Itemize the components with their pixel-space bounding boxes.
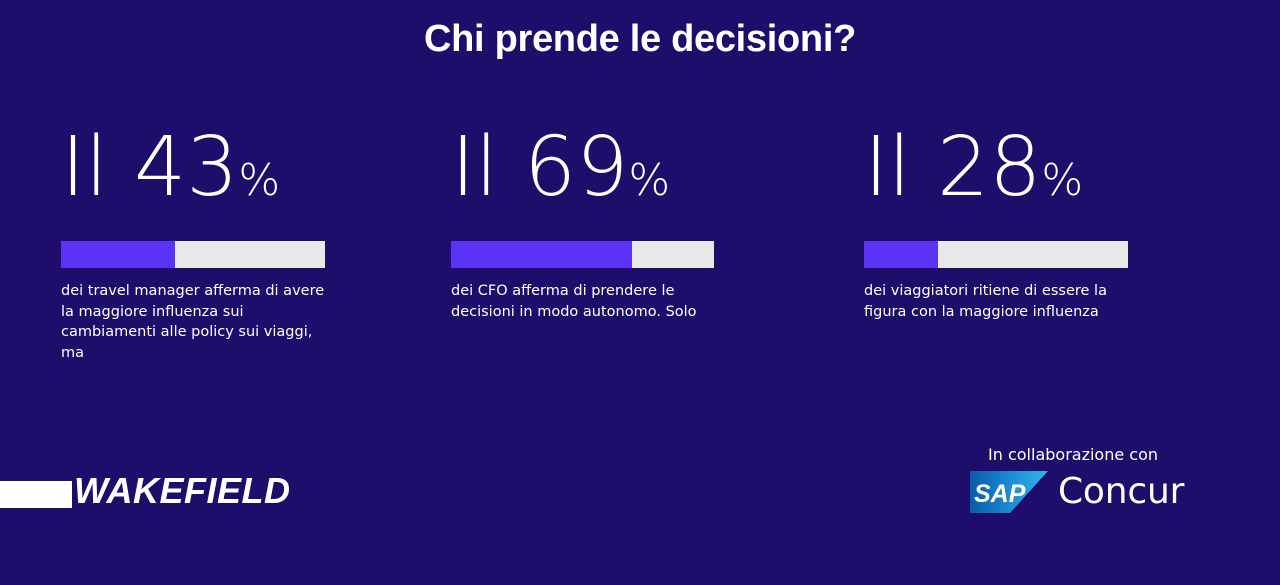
stat-caption: dei viaggiatori ritiene di essere la fig… xyxy=(864,281,1126,322)
stat-value: Il 69% xyxy=(451,120,741,229)
sap-concur-logo: SAP Concur xyxy=(970,470,1184,514)
stat-caption: dei CFO afferma di prendere le decisioni… xyxy=(451,281,713,322)
percent-symbol: % xyxy=(238,155,280,206)
stat-block: Il 28% dei viaggiatori ritiene di essere… xyxy=(864,120,1154,322)
percent-symbol: % xyxy=(628,155,670,206)
stat-caption: dei travel manager afferma di avere la m… xyxy=(61,281,339,363)
stat-value: Il 28% xyxy=(864,120,1154,229)
infographic-slide: Chi prende le decisioni? Il 43% dei trav… xyxy=(0,0,1280,585)
percent-symbol: % xyxy=(1041,155,1083,206)
stat-block: Il 69% dei CFO afferma di prendere le de… xyxy=(451,120,741,322)
progress-bar-fill xyxy=(451,241,632,268)
stats-row: Il 43% dei travel manager afferma di ave… xyxy=(0,120,1280,390)
page-title: Chi prende le decisioni? xyxy=(0,18,1280,61)
stat-prefix: Il xyxy=(864,120,911,215)
concur-logo-text: Concur xyxy=(1058,471,1184,513)
stat-prefix: Il xyxy=(451,120,498,215)
progress-bar-fill xyxy=(61,241,175,268)
stat-prefix: Il xyxy=(61,120,108,215)
progress-bar-fill xyxy=(864,241,938,268)
wakefield-logo: WAKEFIELD xyxy=(0,470,291,512)
collaboration-label: In collaborazione con xyxy=(988,444,1158,466)
stat-percent-number: 69 xyxy=(524,120,628,215)
stat-value: Il 43% xyxy=(61,120,351,229)
stat-block: Il 43% dei travel manager afferma di ave… xyxy=(61,120,351,363)
stat-percent-number: 28 xyxy=(937,120,1041,215)
sap-logo-icon: SAP xyxy=(970,471,1048,513)
progress-bar-track xyxy=(61,241,325,268)
progress-bar-track xyxy=(864,241,1128,268)
sap-logo-wordmark: SAP xyxy=(974,480,1026,508)
progress-bar-track xyxy=(451,241,714,268)
stat-percent-number: 43 xyxy=(134,120,238,215)
wakefield-logo-text: WAKEFIELD xyxy=(74,470,291,512)
wakefield-block-icon xyxy=(0,481,72,508)
